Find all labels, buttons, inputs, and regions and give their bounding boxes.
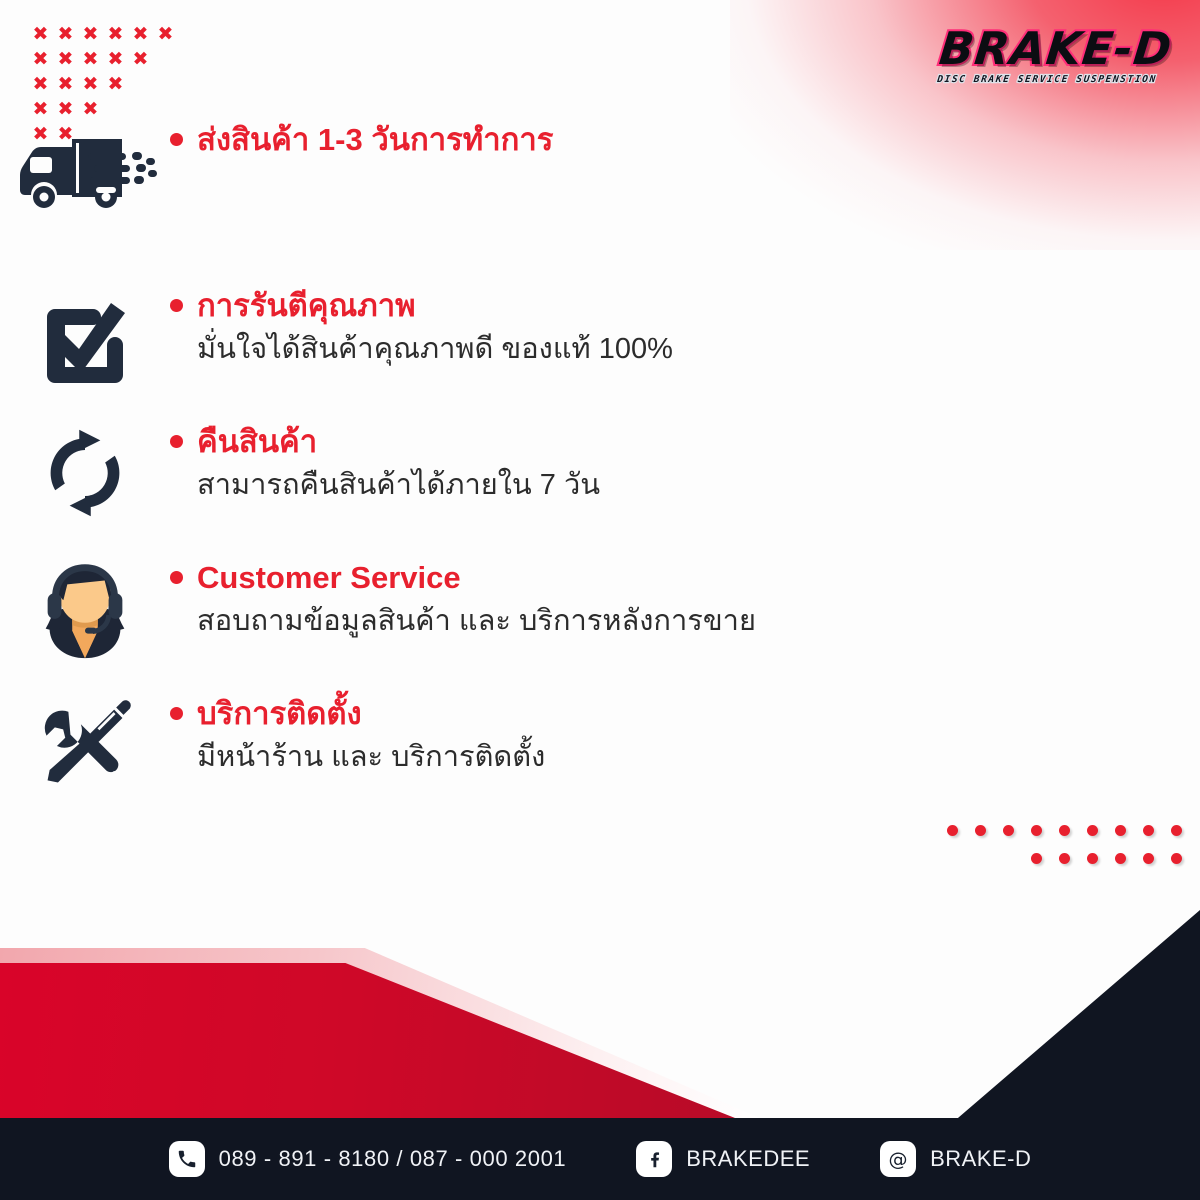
delivery-truck-icon xyxy=(0,112,170,230)
x-mark-icon: ✖ xyxy=(53,22,78,47)
bullet-point xyxy=(170,299,183,312)
dot-mark xyxy=(968,818,996,846)
x-mark-icon: ✖ xyxy=(128,22,153,47)
facebook-name: BRAKEDEE xyxy=(686,1146,810,1172)
dot-spacer xyxy=(996,846,1024,874)
dot-mark xyxy=(1080,818,1108,846)
x-mark-icon: ✖ xyxy=(78,47,103,72)
contact-footer: 089 - 891 - 8180 / 087 - 000 2001 BRAKED… xyxy=(0,1118,1200,1200)
dot-mark xyxy=(940,818,968,846)
bullet-point xyxy=(170,571,183,584)
brand-logo: BRAKE-D DISC BRAKE SERVICE SUSPENSTION xyxy=(922,22,1172,94)
dot-mark xyxy=(1164,846,1192,874)
facebook-icon xyxy=(636,1141,672,1177)
x-mark-icon: ✖ xyxy=(28,72,53,97)
wrench-screwdriver-icon xyxy=(0,686,170,804)
return-arrows-icon xyxy=(0,414,170,532)
checkbox-check-icon xyxy=(0,278,170,396)
dot-mark xyxy=(1136,818,1164,846)
feature-subtitle: สอบถามข้อมูลสินค้า และ บริการหลังการขาย xyxy=(197,601,756,641)
feature-subtitle: สามารถคืนสินค้าได้ภายใน 7 วัน xyxy=(197,465,600,505)
bullet-point xyxy=(170,133,183,146)
feature-title: Customer Service xyxy=(197,558,756,599)
promo-poster: ✖✖✖✖✖✖✖✖✖✖✖✖✖✖✖✖✖✖✖✖✖ BRAKE-D DISC BRAKE… xyxy=(0,0,1200,1200)
feature-title: คืนสินค้า xyxy=(197,422,600,463)
x-mark-icon: ✖ xyxy=(53,47,78,72)
dot-mark xyxy=(1108,846,1136,874)
dot-mark xyxy=(1164,818,1192,846)
dot-mark xyxy=(1052,846,1080,874)
x-mark-icon: ✖ xyxy=(128,47,153,72)
dot-mark xyxy=(1024,818,1052,846)
feature-subtitle: มั่นใจได้สินค้าคุณภาพดี ของแท้ 100% xyxy=(197,329,673,369)
bullet-point xyxy=(170,707,183,720)
phone-icon xyxy=(169,1141,205,1177)
phone-number: 089 - 891 - 8180 / 087 - 000 2001 xyxy=(219,1146,567,1172)
at-sign-icon: @ xyxy=(880,1141,916,1177)
svg-text:@: @ xyxy=(889,1149,908,1171)
headset-agent-icon xyxy=(0,550,170,668)
dot-mark xyxy=(1108,818,1136,846)
dot-pattern-row xyxy=(940,846,1192,874)
x-mark-icon: ✖ xyxy=(28,47,53,72)
x-mark-icon: ✖ xyxy=(78,22,103,47)
x-mark-icon: ✖ xyxy=(103,47,128,72)
logo-tagline: DISC BRAKE SERVICE SUSPENSTION xyxy=(921,74,1172,85)
feature-subtitle: มีหน้าร้าน และ บริการติดตั้ง xyxy=(197,737,545,777)
dot-mark xyxy=(1080,846,1108,874)
dot-pattern-decoration xyxy=(940,818,1192,874)
feature-title: การรันตีคุณภาพ xyxy=(197,286,673,327)
facebook-contact[interactable]: BRAKEDEE xyxy=(636,1141,810,1177)
dot-mark xyxy=(996,818,1024,846)
phone-contact[interactable]: 089 - 891 - 8180 / 087 - 000 2001 xyxy=(169,1141,567,1177)
dot-spacer xyxy=(968,846,996,874)
x-mark-icon: ✖ xyxy=(28,22,53,47)
feature-title: ส่งสินค้า 1-3 วันการทำการ xyxy=(197,120,553,161)
feature-item: บริการติดตั้ง มีหน้าร้าน และ บริการติดตั… xyxy=(0,686,1100,804)
red-banner-shape xyxy=(0,963,735,1118)
dot-mark xyxy=(1136,846,1164,874)
dot-mark xyxy=(1052,818,1080,846)
feature-title: บริการติดตั้ง xyxy=(197,694,545,735)
x-mark-icon: ✖ xyxy=(153,22,178,47)
x-mark-icon: ✖ xyxy=(103,22,128,47)
x-pattern-row: ✖✖✖✖✖ xyxy=(28,47,178,72)
feature-item: Customer Service สอบถามข้อมูลสินค้า และ … xyxy=(0,550,1100,668)
feature-item: การรันตีคุณภาพ มั่นใจได้สินค้าคุณภาพดี ข… xyxy=(0,278,1100,396)
dot-pattern-row xyxy=(940,818,1192,846)
dot-mark xyxy=(1024,846,1052,874)
x-pattern-row: ✖✖✖✖ xyxy=(28,72,178,97)
line-contact[interactable]: @ BRAKE-D xyxy=(880,1141,1031,1177)
x-mark-icon: ✖ xyxy=(53,72,78,97)
feature-item: ส่งสินค้า 1-3 วันการทำการ xyxy=(0,112,1100,230)
x-mark-icon: ✖ xyxy=(103,72,128,97)
bullet-point xyxy=(170,435,183,448)
x-pattern-row: ✖✖✖✖✖✖ xyxy=(28,22,178,47)
dot-spacer xyxy=(940,846,968,874)
logo-wordmark: BRAKE-D xyxy=(919,22,1175,75)
feature-list: ส่งสินค้า 1-3 วันการทำการ การรันตีคุณภาพ… xyxy=(0,112,1100,818)
feature-item: คืนสินค้า สามารถคืนสินค้าได้ภายใน 7 วัน xyxy=(0,414,1100,532)
x-mark-icon: ✖ xyxy=(78,72,103,97)
line-id: BRAKE-D xyxy=(930,1146,1031,1172)
